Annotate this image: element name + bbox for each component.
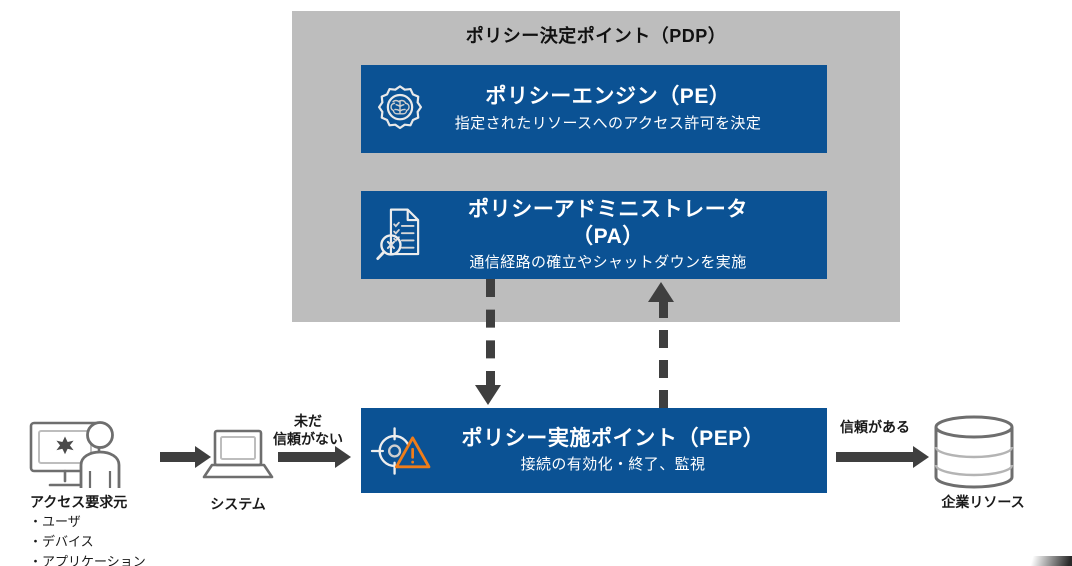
- policy-engine-box[interactable]: ポリシーエンジン（PE） 指定されたリソースへのアクセス許可を決定: [361, 65, 827, 153]
- trusted-edge-label: 信頼がある: [818, 419, 932, 437]
- database-cylinder-icon: [930, 415, 1018, 494]
- pep-subtitle: 接続の有効化・終了、監視: [439, 454, 787, 475]
- pep-to-resource-arrow: [836, 452, 914, 462]
- gear-brain-icon: [361, 82, 439, 136]
- target-warning-icon: [361, 423, 439, 479]
- requester-caption: アクセス要求元: [10, 492, 190, 512]
- pep-to-pa-arrowhead: [648, 282, 674, 302]
- system-caption: システム: [183, 494, 293, 514]
- untrusted-edge-label: 未だ 信頼がない: [258, 413, 358, 448]
- document-magnifier-icon: [361, 206, 439, 264]
- system-to-pep-arrow: [278, 452, 336, 462]
- list-item: ・ユーザ: [29, 512, 146, 532]
- requester-to-system-arrow: [160, 452, 196, 462]
- policy-administrator-subtitle: 通信経路の確立やシャットダウンを実施: [439, 252, 777, 273]
- pep-to-pa-report-arrow: [659, 300, 668, 408]
- policy-engine-subtitle: 指定されたリソースへのアクセス許可を決定: [439, 113, 777, 134]
- policy-administrator-box[interactable]: ポリシーアドミニストレータ（PA） 通信経路の確立やシャットダウンを実施: [361, 191, 827, 279]
- list-item: ・デバイス: [29, 532, 146, 552]
- pa-to-pep-arrowhead: [475, 385, 501, 405]
- requester-bullet-list: ・ユーザ ・デバイス ・アプリケーション: [29, 512, 146, 566]
- pep-title: ポリシー実施ポイント（PEP）: [439, 426, 787, 452]
- diagram-canvas: ポリシー決定ポイント（PDP） ポリシーエンジン（PE） 指定されたリソースへの…: [0, 0, 1072, 566]
- list-item: ・アプリケーション: [29, 552, 146, 566]
- policy-administrator-title: ポリシーアドミニストレータ（PA）: [439, 197, 777, 250]
- pdp-title: ポリシー決定ポイント（PDP）: [292, 22, 900, 48]
- user-monitor-icon: [28, 419, 150, 496]
- policy-enforcement-point-box[interactable]: ポリシー実施ポイント（PEP） 接続の有効化・終了、監視: [361, 408, 827, 493]
- resource-caption: 企業リソース: [908, 492, 1058, 512]
- corner-decoration: [982, 556, 1072, 566]
- pa-to-pep-control-arrow: [486, 279, 495, 389]
- policy-engine-title: ポリシーエンジン（PE）: [439, 84, 777, 110]
